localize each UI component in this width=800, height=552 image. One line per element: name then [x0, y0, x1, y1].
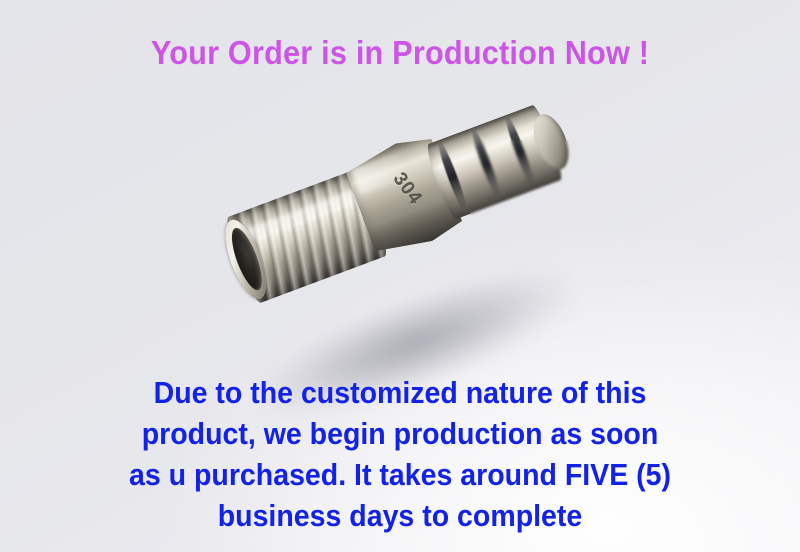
depth-of-field-blur — [470, 140, 630, 270]
promo-banner: Your Order is in Production Now ! 304 Du… — [0, 0, 800, 552]
body-line: Due to the customized nature of this — [32, 372, 768, 413]
npt-threaded-end — [222, 168, 391, 305]
body-line: business days to complete — [32, 495, 768, 536]
barb-end-cap — [527, 110, 575, 175]
body-line: as u purchased. It takes around FIVE (5) — [32, 454, 768, 495]
body-line: product, we begin production as soon — [32, 413, 768, 454]
hose-barb-fitting: 304 — [218, 90, 569, 305]
grade-stamp-304: 304 — [388, 169, 426, 210]
headline-text: Your Order is in Production Now ! — [28, 34, 772, 72]
body-text-block: Due to the customized nature of this pro… — [0, 372, 800, 536]
bore-rim — [217, 215, 275, 304]
barb-groove — [468, 126, 504, 204]
barb-groove — [435, 139, 471, 217]
hex-shoulder — [342, 131, 465, 261]
barb-groove — [502, 113, 538, 191]
bore-opening — [226, 225, 268, 294]
barbed-hose-end — [423, 103, 565, 221]
